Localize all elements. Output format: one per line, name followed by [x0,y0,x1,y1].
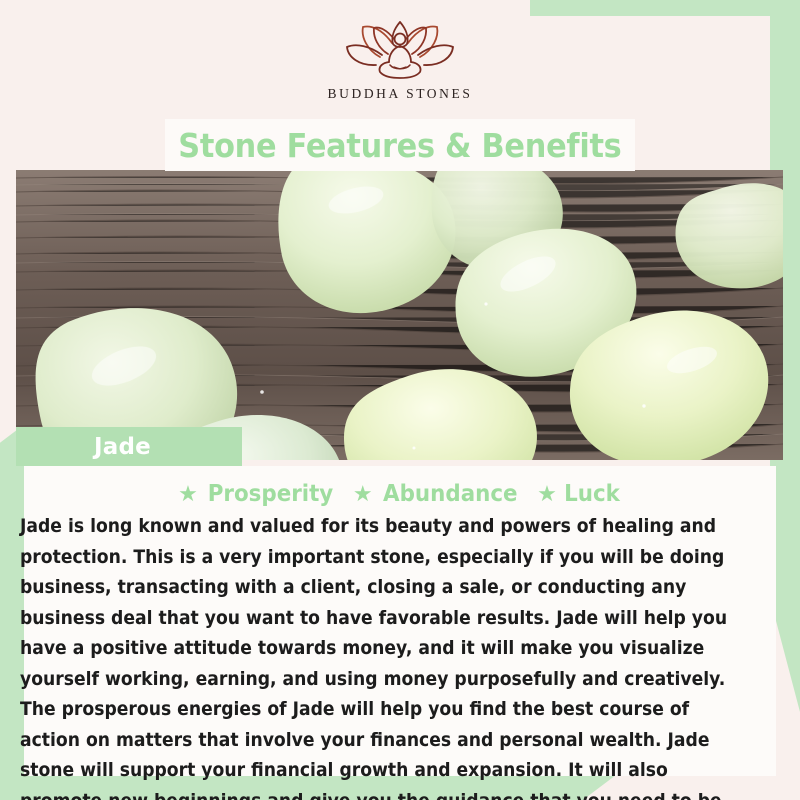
star-icon: ★ [537,483,557,505]
brand-header: BUDDHA STONES [0,0,800,118]
benefit-label: Prosperity [208,481,334,507]
page-title: Stone Features & Benefits [178,126,621,165]
benefits-row: ★ Prosperity ★ Abundance ★ Luck [24,478,776,510]
stone-photo [16,170,783,460]
benefit-item: ★ Abundance [353,481,522,507]
star-icon: ★ [178,483,198,505]
benefit-item: ★ Prosperity [178,481,338,507]
stone-name-tag: Jade [16,427,242,466]
benefit-item: ★ Luck [537,481,622,507]
lotus-meditation-icon [334,17,466,81]
star-icon: ★ [353,483,373,505]
stone-name: Jade [94,434,151,460]
brand-name: BUDDHA STONES [328,86,473,102]
stone-info-card: BUDDHA STONES Stone Features & Benefits [0,0,800,800]
benefit-label: Luck [564,481,620,507]
stone-description: Jade is long known and valued for its be… [20,512,732,800]
benefit-label: Abundance [383,481,517,507]
title-banner: Stone Features & Benefits [165,119,635,171]
